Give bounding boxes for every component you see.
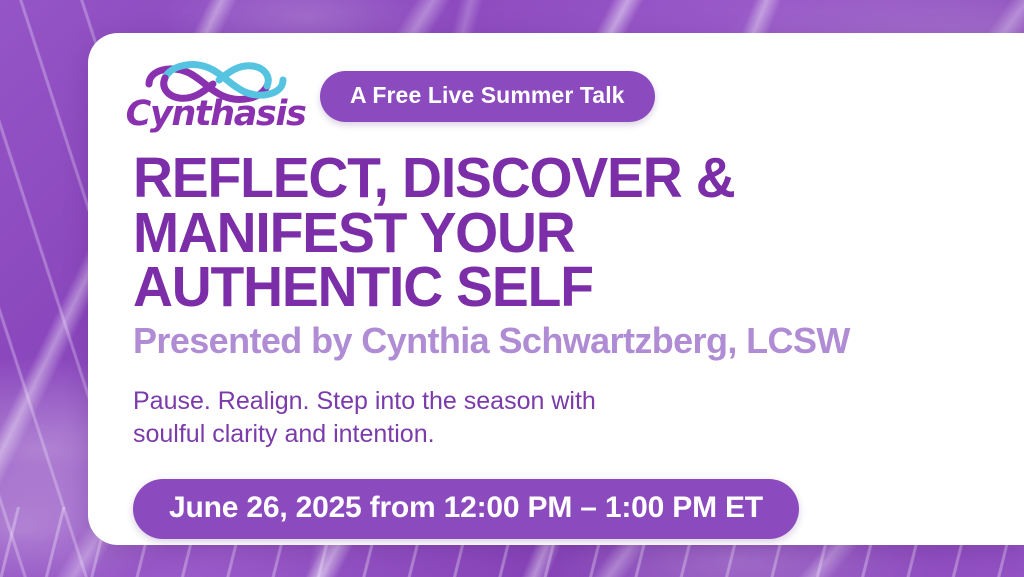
headline-line-1: REFLECT, DISCOVER & xyxy=(133,151,958,206)
brand-logo: Cynthasis xyxy=(133,60,298,132)
promo-card: Cynthasis A Free Live Summer Talk REFLEC… xyxy=(88,33,1024,545)
headline-line-2: MANIFEST YOUR xyxy=(133,206,958,261)
brand-wordmark: Cynthasis xyxy=(126,97,306,132)
header-row: Cynthasis A Free Live Summer Talk xyxy=(133,55,984,137)
description-text: Pause. Realign. Step into the season wit… xyxy=(133,385,984,451)
event-datetime-button[interactable]: June 26, 2025 from 12:00 PM – 1:00 PM ET xyxy=(133,479,799,539)
event-type-badge: A Free Live Summer Talk xyxy=(320,71,655,122)
description-line-1: Pause. Realign. Step into the season wit… xyxy=(133,385,984,418)
presenter-line: Presented by Cynthia Schwartzberg, LCSW xyxy=(133,322,984,360)
description-line-2: soulful clarity and intention. xyxy=(133,418,984,451)
page-title: REFLECT, DISCOVER & MANIFEST YOUR AUTHEN… xyxy=(133,151,958,315)
headline-line-3: AUTHENTIC SELF xyxy=(133,260,958,315)
